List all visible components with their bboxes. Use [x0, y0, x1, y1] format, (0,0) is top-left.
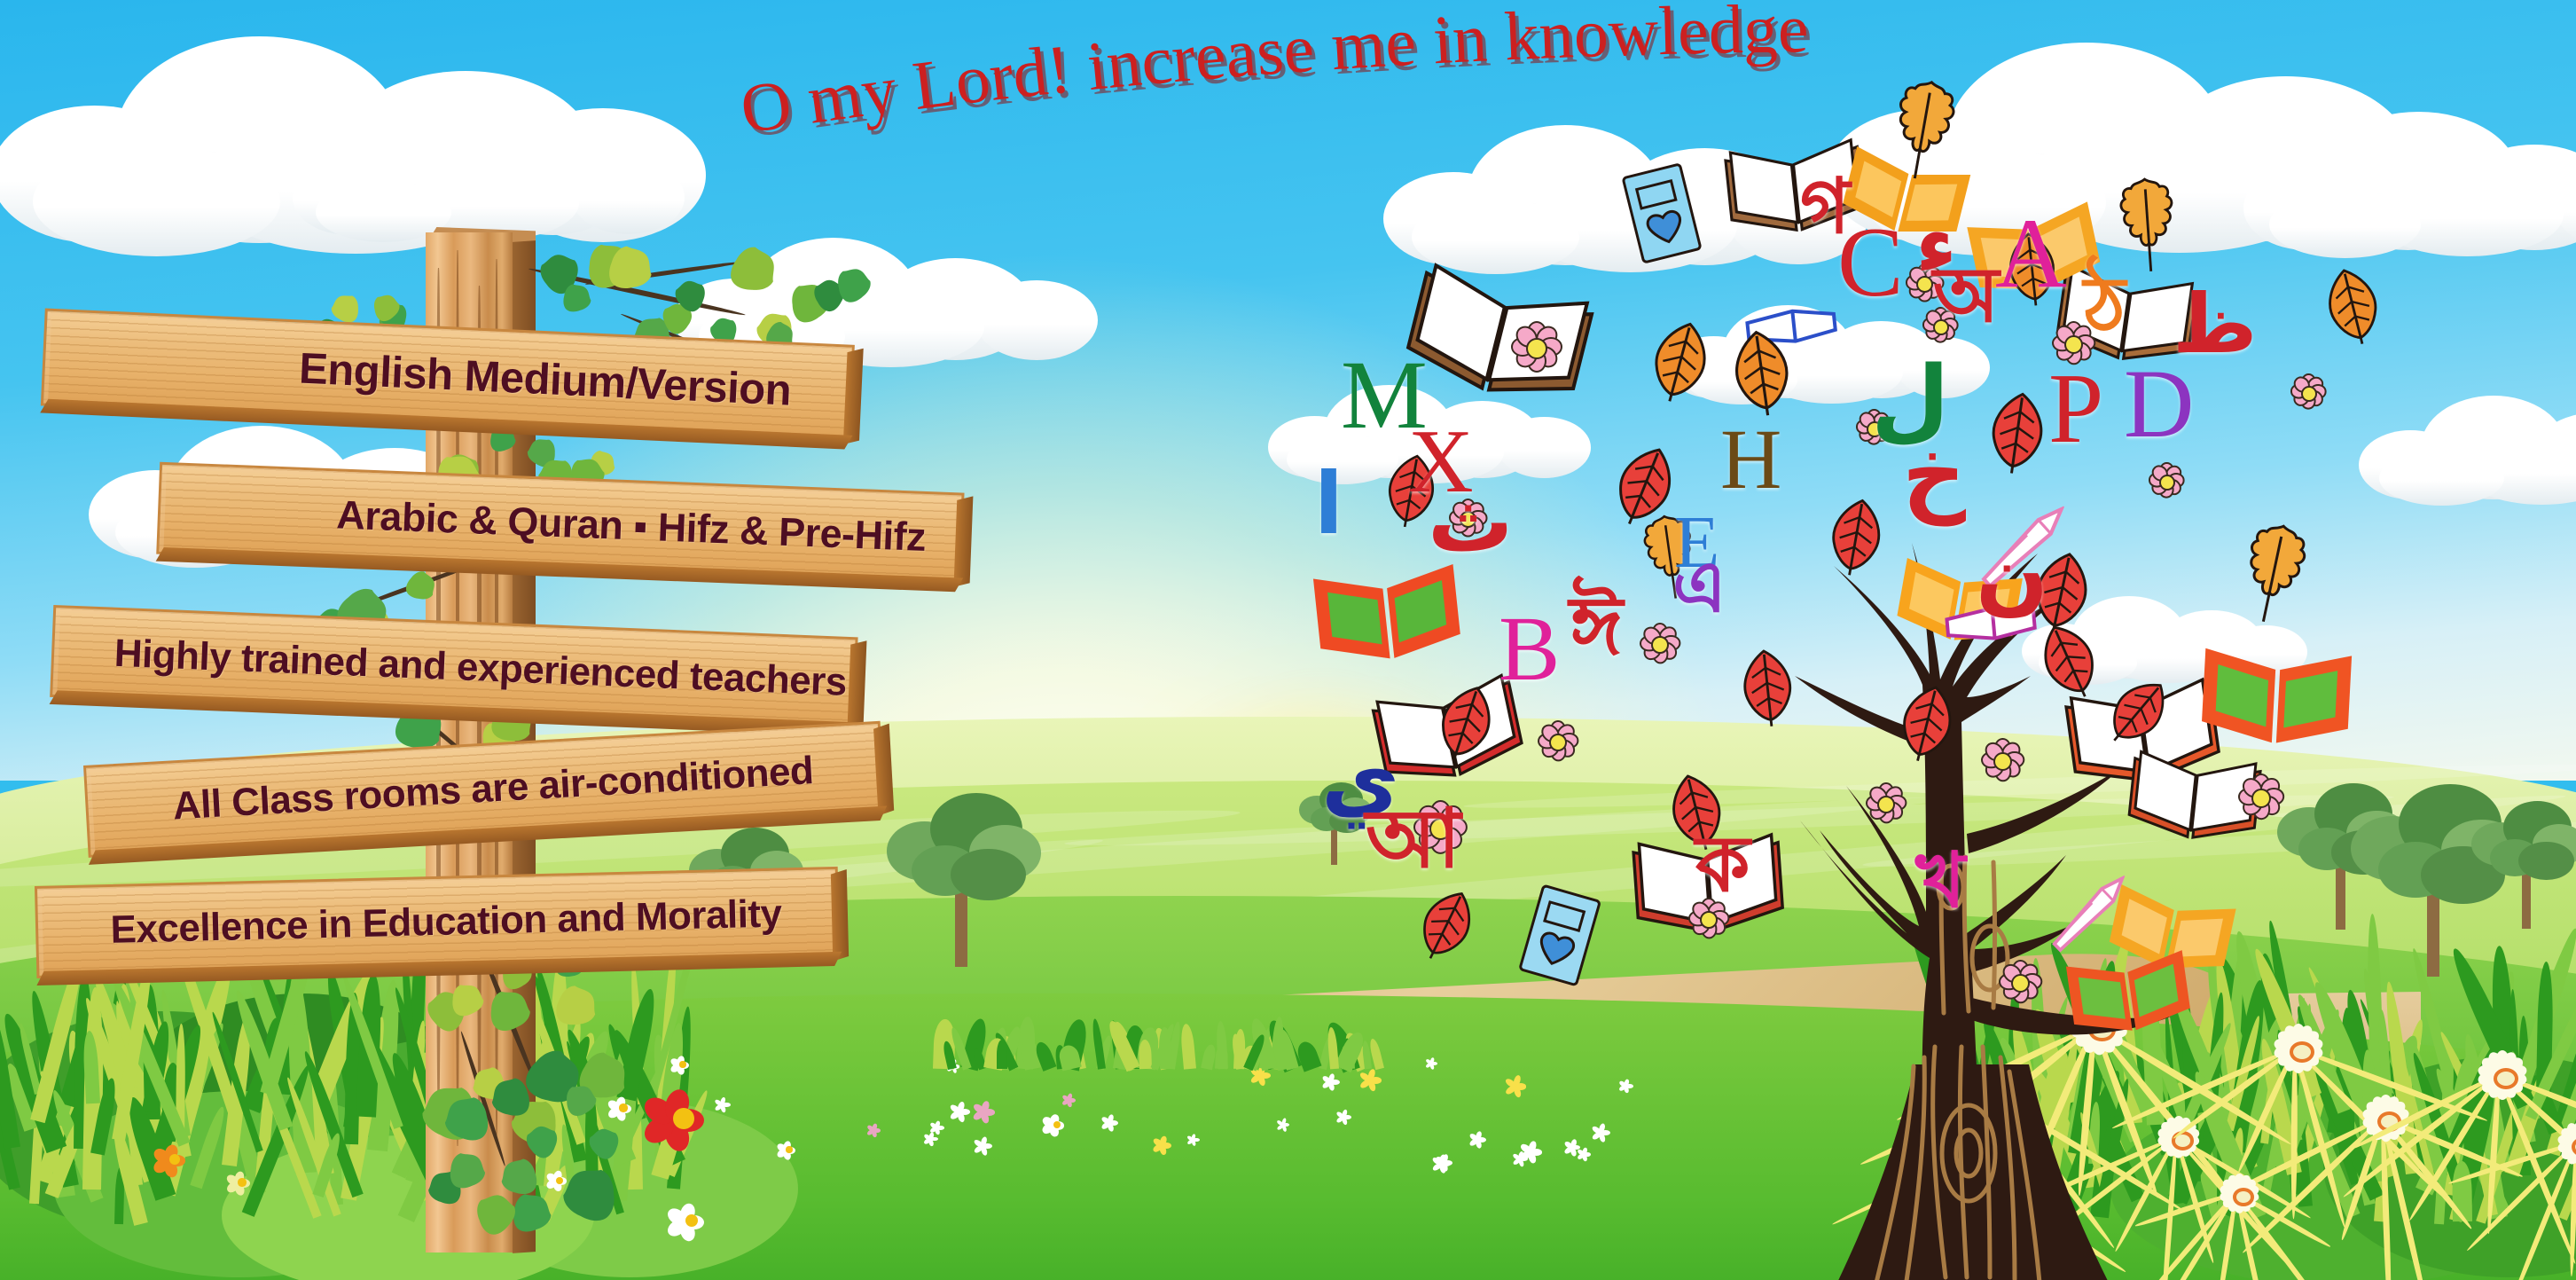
open-book-icon	[2196, 626, 2358, 754]
daisy-flower	[2474, 1047, 2531, 1103]
blossom-icon	[2288, 373, 2326, 411]
meadow-flower	[1188, 1131, 1204, 1147]
floating-letter: ث	[1428, 479, 1513, 564]
leaf-icon	[1723, 324, 1800, 420]
floating-letter: ঈ	[1570, 585, 1623, 667]
floating-letter: আ	[1366, 798, 1460, 880]
floating-letter: خ	[1902, 430, 1966, 519]
foreground-flower	[674, 1056, 692, 1073]
meadow-flower	[1427, 1056, 1442, 1072]
meadow-flower	[925, 1130, 943, 1148]
blossom-icon	[1862, 781, 1907, 825]
floating-letter: অ	[1933, 257, 1999, 334]
meadow-flower	[1102, 1111, 1125, 1135]
leaf-icon	[1734, 645, 1801, 730]
foreground-flower	[231, 1171, 254, 1194]
floating-letter: B	[1499, 603, 1560, 695]
meadow-flower	[1507, 1072, 1535, 1101]
floating-letter: ن	[1976, 532, 2048, 617]
floating-letter: A	[1995, 204, 2067, 303]
meadow-flower	[1361, 1065, 1390, 1094]
open-book-icon	[2060, 932, 2196, 1044]
ivy-leaf	[521, 1123, 562, 1163]
floating-letter: ا	[1314, 461, 1343, 546]
banner-canvas: English Medium/Version Arabic & Quran ▪ …	[0, 0, 2576, 1280]
blossom-icon	[1995, 958, 2042, 1005]
sign-excellence[interactable]: Excellence in Education and Morality	[35, 867, 834, 973]
blossom-icon	[1507, 319, 1562, 374]
red-flower	[656, 1091, 711, 1146]
floating-letter: D	[2124, 355, 2194, 452]
ivy-leaf	[469, 1190, 522, 1241]
cloud	[293, 106, 685, 242]
meadow-flower	[868, 1121, 886, 1139]
foreground-flower	[780, 1141, 798, 1158]
floating-letter: C	[1837, 213, 1904, 312]
cloud	[2359, 381, 2576, 506]
foreground-flower	[674, 1203, 709, 1238]
floating-letter: এ	[1672, 552, 1726, 623]
meadow-flower	[716, 1094, 737, 1114]
meadow-flower	[1578, 1145, 1596, 1164]
floating-letter: P	[2048, 359, 2103, 459]
leaf-icon	[1981, 387, 2054, 478]
daisy-flower	[2554, 1118, 2576, 1169]
meadow-flower	[975, 1134, 999, 1158]
meadow-flower	[951, 1098, 979, 1126]
distant-tree	[878, 789, 1046, 967]
blossom-icon	[2146, 461, 2184, 499]
grass-blade	[997, 1040, 1007, 1069]
distant-tree	[2465, 798, 2576, 929]
blossom-icon	[1534, 719, 1578, 763]
meadow-flower	[1063, 1091, 1081, 1109]
floating-letter: খ	[1915, 843, 1965, 919]
meadow-flower	[1514, 1149, 1534, 1169]
blossom-icon	[2235, 772, 2284, 821]
blossom-icon	[1977, 736, 2024, 783]
meadow-flower	[1470, 1128, 1492, 1150]
ivy-leaf	[670, 277, 711, 317]
meadow-flower	[1434, 1151, 1458, 1175]
meadow-flower	[975, 1097, 1003, 1126]
foreground-flower	[1046, 1114, 1068, 1135]
foreground-flower	[160, 1144, 190, 1174]
floating-letter: H	[1720, 417, 1781, 502]
ivy-leaf	[585, 1125, 625, 1164]
meadow-flower	[1154, 1133, 1178, 1158]
meadow-flower	[1278, 1116, 1295, 1133]
meadow-flower	[1338, 1107, 1357, 1126]
floating-letter: ঠ	[2084, 266, 2126, 344]
cloud	[2243, 106, 2576, 258]
floating-letter: ক	[1695, 825, 1750, 903]
meadow-flower	[1324, 1071, 1346, 1093]
